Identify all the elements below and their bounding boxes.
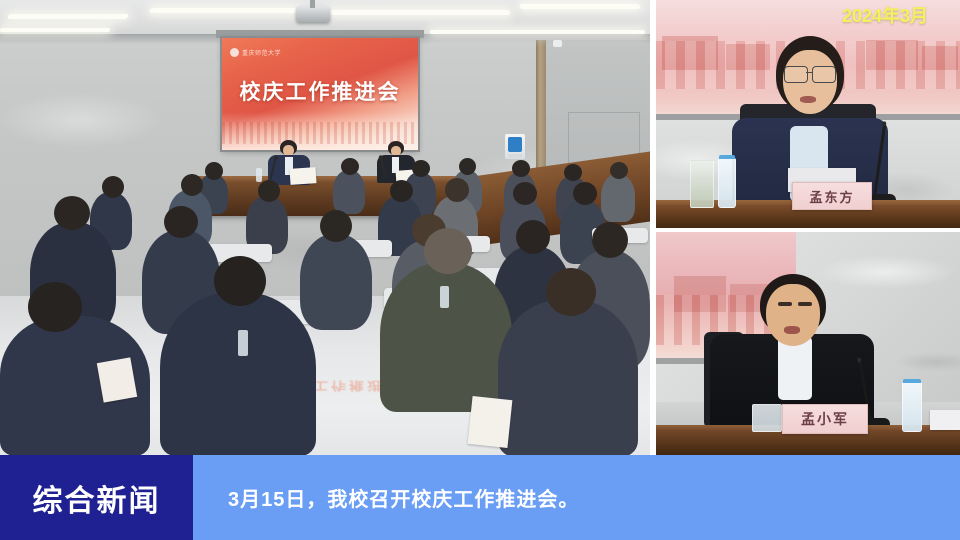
audience-member <box>333 170 365 214</box>
audience-head <box>610 162 628 179</box>
audience-head <box>54 196 90 230</box>
nameplate-text: 孟小军 <box>801 409 849 429</box>
water-bottle <box>718 158 736 208</box>
news-caption-text: 3月15日，我校召开校庆工作推进会。 <box>228 483 579 512</box>
audience-head <box>592 222 628 258</box>
audience-head <box>102 176 124 198</box>
screenshot-root: 重庆师范大学 校庆工作推进会 校庆工作推进会 <box>0 0 960 540</box>
audience-member-foreground <box>498 300 638 455</box>
ceiling-light <box>519 4 640 9</box>
date-stamp: 2024年3月 <box>842 2 928 28</box>
audience-head-foreground <box>546 268 596 316</box>
news-caption: 3月15日，我校召开校庆工作推进会。 <box>228 455 579 540</box>
speaker-photo-bottom: 孟小军 <box>656 232 960 455</box>
podium-bottle-left <box>256 168 262 182</box>
audience-head <box>320 210 352 242</box>
audience-head <box>390 180 413 202</box>
university-logo: 重庆师范大学 <box>230 48 281 57</box>
audience-head <box>573 182 597 205</box>
audience-head <box>412 160 430 177</box>
ceiling-projector <box>296 6 330 22</box>
speaker-photo-top: 孟东方 2024年3月 <box>656 0 960 228</box>
ceiling-light <box>0 28 110 32</box>
hall-wood-column <box>536 36 546 186</box>
news-category-text: 综合新闻 <box>33 476 161 520</box>
attendee-document <box>468 396 513 448</box>
screen-title-text: 校庆工作推进会 <box>222 76 418 106</box>
speaker-face <box>766 284 820 346</box>
audience-head <box>181 174 203 196</box>
logo-badge-icon <box>230 48 239 57</box>
audience-head <box>205 162 223 180</box>
speaker-nameplate-top: 孟东方 <box>792 182 872 210</box>
date-stamp-text: 2024年3月 <box>842 6 928 26</box>
water-bottle <box>902 382 922 432</box>
speaker-mouth <box>800 96 816 103</box>
audience-member <box>601 174 635 222</box>
audience-member <box>300 234 372 330</box>
desk-water-bottle <box>440 286 449 308</box>
main-conference-photo: 重庆师范大学 校庆工作推进会 校庆工作推进会 <box>0 0 650 455</box>
speaker-eye <box>798 302 812 306</box>
audience-head <box>512 160 530 177</box>
news-category-badge: 综合新闻 <box>0 455 193 540</box>
drinking-glass <box>752 404 782 432</box>
nameplate-text: 孟东方 <box>809 187 854 206</box>
audience-head <box>445 178 469 202</box>
audience-head-foreground <box>28 282 82 332</box>
glasses-bridge <box>806 72 812 73</box>
audience-head <box>341 158 359 175</box>
screen-frame <box>216 30 424 38</box>
eyeglasses <box>784 66 808 83</box>
wall-sign <box>505 134 525 159</box>
news-banner: 综合新闻 3月15日，我校召开校庆工作推进会。 <box>0 455 960 540</box>
eyeglasses <box>812 66 836 83</box>
audience-head <box>164 206 198 238</box>
attendee-document <box>97 357 137 402</box>
speaker-mouth <box>784 326 800 334</box>
audience-head <box>459 158 476 175</box>
speaker-nameplate-bottom: 孟小军 <box>782 404 868 434</box>
ceiling-light <box>149 8 300 13</box>
audience-head <box>258 180 280 202</box>
ceiling-light <box>430 30 646 34</box>
podium-document-left <box>289 167 316 185</box>
projector-mount <box>310 0 315 8</box>
screen-building-graphic <box>674 276 726 312</box>
audience-head-foreground <box>424 228 472 274</box>
projection-screen: 重庆师范大学 校庆工作推进会 <box>222 38 418 150</box>
audience-member-foreground <box>380 262 512 412</box>
security-camera-icon <box>553 40 562 47</box>
ceiling-light <box>7 14 129 19</box>
audience-head <box>513 182 537 205</box>
desk-water-bottle <box>238 330 248 356</box>
logo-text: 重庆师范大学 <box>242 48 281 57</box>
speaker-eye <box>778 302 792 306</box>
desk-document <box>930 410 960 430</box>
audience-head <box>516 220 550 254</box>
ceiling-light <box>330 10 511 15</box>
audience-head-foreground <box>214 256 266 306</box>
audience-head <box>564 164 582 181</box>
audience-member-foreground <box>160 292 316 455</box>
tea-jar <box>690 160 714 208</box>
